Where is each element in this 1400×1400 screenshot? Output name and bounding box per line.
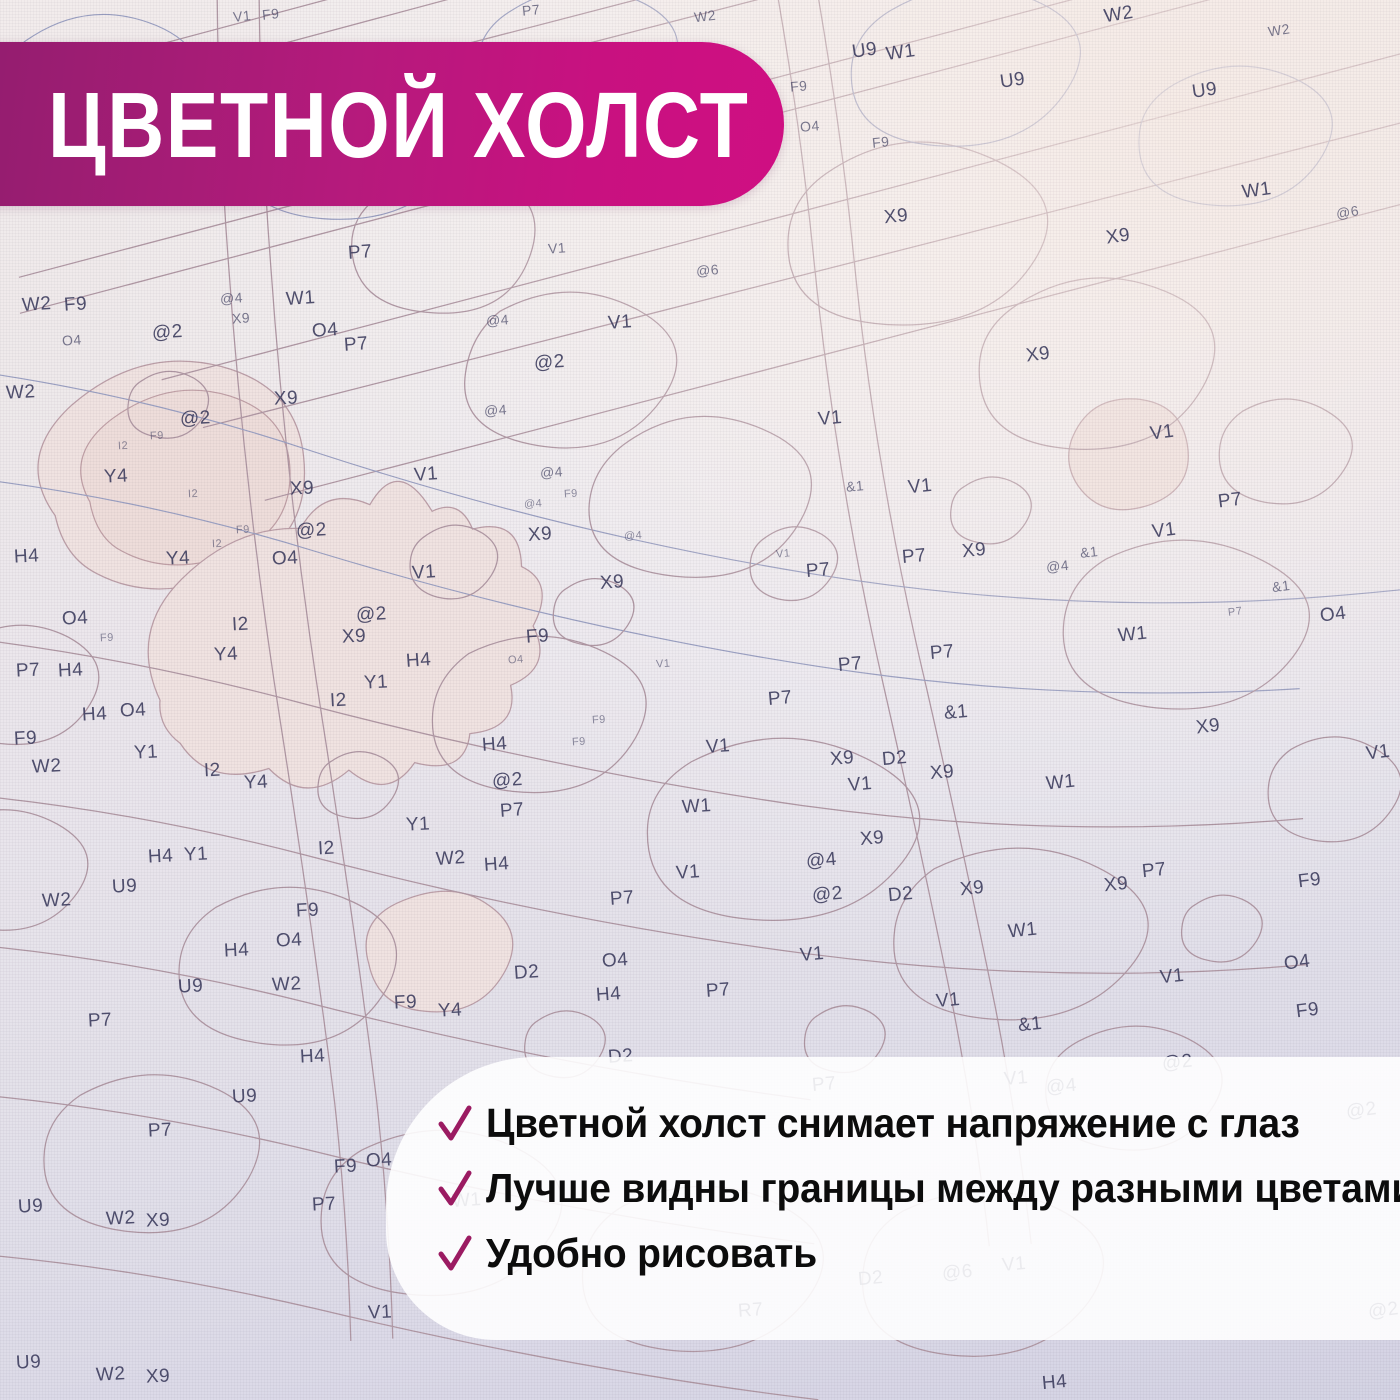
paint-code-label: @4 xyxy=(483,401,507,419)
paint-code-label: &1 xyxy=(1271,577,1291,595)
paint-code-label: O4 xyxy=(119,699,146,722)
paint-code-label: V1 xyxy=(675,861,701,885)
paint-code-label: H4 xyxy=(299,1045,325,1068)
paint-code-label: F9 xyxy=(1297,869,1323,894)
paint-code-label: @4 xyxy=(1045,557,1070,575)
paint-code-label: @4 xyxy=(539,463,563,481)
paint-code-label: F9 xyxy=(63,293,88,317)
paint-code-label: @2 xyxy=(533,351,565,375)
paint-code-label: V1 xyxy=(607,311,633,335)
paint-code-label: V1 xyxy=(817,407,843,431)
paint-code-label: W1 xyxy=(885,40,917,66)
paint-code-label: W1 xyxy=(681,795,712,819)
paint-code-label: W2 xyxy=(5,381,36,405)
header-banner-pill: ЦВЕТНОЙ ХОЛСТ xyxy=(0,42,784,206)
paint-code-label: W1 xyxy=(1241,178,1273,204)
benefits-card: Цветной холст снимает напряжение с глаз … xyxy=(386,1057,1400,1340)
paint-code-label: P7 xyxy=(901,545,927,569)
paint-code-label: Y4 xyxy=(165,547,190,570)
banner-title: ЦВЕТНОЙ ХОЛСТ xyxy=(48,77,749,170)
promo-image: V1F9P7W2U9W1W2U9W2W1U9@6F9O4F9X9X9X9W2F9… xyxy=(0,0,1400,1400)
paint-code-label: X9 xyxy=(231,309,250,326)
paint-code-label: F9 xyxy=(393,991,417,1014)
paint-code-label: P7 xyxy=(705,979,731,1003)
paint-code-label: @4 xyxy=(219,289,243,307)
paint-code-label: O4 xyxy=(275,929,302,952)
paint-code-label: P7 xyxy=(311,1193,336,1216)
paint-code-label: V1 xyxy=(413,463,439,487)
paint-code-label: X9 xyxy=(1195,715,1222,740)
paint-code-label: &1 xyxy=(845,477,864,495)
paint-code-label: O4 xyxy=(1283,950,1312,975)
paint-code-label: X9 xyxy=(1103,873,1129,897)
paint-code-label: O4 xyxy=(311,319,339,343)
paint-code-label: F9 xyxy=(333,1155,357,1178)
paint-code-label: W2 xyxy=(435,847,466,871)
paint-code-label: H4 xyxy=(57,659,83,682)
paint-code-label: X9 xyxy=(273,387,298,410)
paint-code-label: V1 xyxy=(847,773,873,797)
paint-code-label: @4 xyxy=(524,497,543,510)
paint-code-label: V1 xyxy=(907,475,933,499)
paint-code-label: U9 xyxy=(851,38,879,63)
paint-code-label: @4 xyxy=(805,849,838,874)
paint-code-label: @2 xyxy=(151,321,183,345)
paint-code-label: @2 xyxy=(355,603,387,627)
paint-code-label: Y4 xyxy=(213,643,238,666)
paint-code-label: H4 xyxy=(81,703,107,726)
paint-code-label: P7 xyxy=(1141,859,1167,883)
paint-code-label: P7 xyxy=(929,641,955,665)
paint-code-label: W2 xyxy=(693,7,717,26)
paint-code-label: F9 xyxy=(592,714,607,727)
paint-code-label: V1 xyxy=(367,1301,392,1324)
paint-code-label: P7 xyxy=(15,659,40,682)
paint-code-label: I2 xyxy=(317,838,335,861)
paint-code-label: O4 xyxy=(61,607,88,630)
paint-code-label: P7 xyxy=(499,799,525,823)
paint-code-label: U9 xyxy=(999,68,1027,93)
paint-code-label: F9 xyxy=(1295,999,1321,1024)
paint-code-label: &1 xyxy=(1079,543,1099,561)
paint-code-label: P7 xyxy=(347,241,373,265)
paint-code-label: I2 xyxy=(329,690,347,713)
paint-code-label: H4 xyxy=(405,649,432,673)
paint-code-label: X9 xyxy=(961,539,987,563)
paint-code-label: X9 xyxy=(145,1209,170,1232)
paint-code-label: H4 xyxy=(595,983,622,1007)
paint-code-label: F9 xyxy=(13,727,37,750)
paint-code-label: Y4 xyxy=(243,771,268,794)
paint-code-label: V1 xyxy=(1159,965,1185,989)
paint-code-label: V1 xyxy=(935,989,961,1013)
paint-code-label: P7 xyxy=(609,887,635,911)
paint-code-label: F9 xyxy=(871,133,890,151)
paint-code-label: @2 xyxy=(811,883,844,908)
paint-code-label: F9 xyxy=(572,736,587,749)
paint-code-label: W2 xyxy=(41,889,72,913)
check-icon xyxy=(438,1235,472,1273)
paint-code-label: W2 xyxy=(31,755,62,779)
paint-code-label: P7 xyxy=(805,559,831,583)
paint-code-label: X9 xyxy=(341,625,366,648)
paint-code-label: I2 xyxy=(118,440,129,453)
paint-code-label: X9 xyxy=(145,1365,170,1388)
paint-code-label: @4 xyxy=(485,311,509,329)
paint-code-label: V1 xyxy=(705,735,731,759)
paint-code-label: X9 xyxy=(289,477,314,500)
paint-code-label: F9 xyxy=(789,77,808,94)
paint-code-label: P7 xyxy=(147,1119,172,1142)
paint-code-label: O4 xyxy=(61,331,82,348)
paint-code-label: O4 xyxy=(601,949,629,973)
paint-code-label: D2 xyxy=(887,883,914,907)
paint-code-label: X9 xyxy=(1105,224,1132,249)
benefit-label: Лучше видны границы между разными цветам… xyxy=(486,1168,1400,1209)
paint-code-label: D2 xyxy=(513,961,540,985)
paint-code-label: V1 xyxy=(656,658,671,671)
paint-code-label: I2 xyxy=(188,488,199,501)
paint-code-label: F9 xyxy=(150,430,164,443)
paint-code-label: P7 xyxy=(767,687,793,711)
paint-code-label: @2 xyxy=(491,769,523,793)
paint-code-label: W1 xyxy=(1045,771,1077,796)
paint-code-label: O4 xyxy=(1319,602,1348,627)
paint-code-label: Y4 xyxy=(437,999,462,1022)
paint-code-label: W2 xyxy=(105,1207,136,1231)
paint-code-label: I2 xyxy=(231,614,249,637)
paint-code-label: P7 xyxy=(1217,489,1244,514)
benefit-item: Лучше видны границы между разными цветам… xyxy=(438,1156,1400,1221)
paint-code-label: &1 xyxy=(1017,1013,1043,1037)
paint-code-label: P7 xyxy=(521,1,540,19)
paint-code-label: U9 xyxy=(15,1351,41,1374)
paint-code-label: F9 xyxy=(525,625,550,649)
paint-code-label: F9 xyxy=(100,632,114,645)
paint-code-label: H4 xyxy=(481,733,508,757)
paint-code-label: &1 xyxy=(943,701,969,725)
paint-code-label: P7 xyxy=(837,653,863,677)
paint-code-label: V1 xyxy=(1365,741,1392,766)
paint-code-label: X9 xyxy=(959,877,985,901)
paint-code-label: H4 xyxy=(223,939,249,962)
paint-code-label: X9 xyxy=(883,205,909,229)
paint-code-label: H4 xyxy=(483,853,510,877)
paint-code-label: U9 xyxy=(231,1085,257,1108)
benefit-label: Цветной холст снимает напряжение с глаз xyxy=(486,1103,1300,1144)
paint-code-label: V1 xyxy=(547,239,566,256)
paint-code-label: F9 xyxy=(236,524,250,537)
paint-code-label: U9 xyxy=(1191,78,1219,103)
paint-code-label: U9 xyxy=(17,1195,43,1218)
paint-code-label: W2 xyxy=(95,1363,126,1387)
paint-code-label: I2 xyxy=(212,538,223,551)
paint-code-label: V1 xyxy=(799,943,825,967)
paint-code-label: X9 xyxy=(599,571,625,595)
paint-code-label: O4 xyxy=(799,117,820,135)
paint-code-label: @2 xyxy=(179,407,211,431)
paint-code-label: W1 xyxy=(285,287,316,311)
paint-code-label: X9 xyxy=(929,761,955,785)
check-icon xyxy=(438,1170,472,1208)
paint-code-label: U9 xyxy=(177,975,203,998)
paint-code-label: @2 xyxy=(295,519,327,543)
paint-code-label: V1 xyxy=(232,7,252,25)
paint-code-label: V1 xyxy=(776,547,791,560)
paint-code-label: O4 xyxy=(365,1149,392,1172)
paint-code-label: Y4 xyxy=(103,465,128,488)
paint-code-label: Y1 xyxy=(363,671,388,694)
paint-code-label: W2 xyxy=(271,973,302,997)
paint-code-label: Y1 xyxy=(183,843,208,866)
paint-code-label: W1 xyxy=(1117,623,1149,648)
paint-code-label: O4 xyxy=(271,547,298,570)
paint-code-label: V1 xyxy=(1149,421,1176,446)
benefit-item: Цветной холст снимает напряжение с глаз xyxy=(438,1091,1400,1156)
paint-code-label: P7 xyxy=(87,1009,112,1032)
paint-code-label: W2 xyxy=(21,293,52,317)
paint-code-label: W1 xyxy=(1007,919,1039,944)
paint-code-label: @4 xyxy=(624,529,643,542)
paint-code-label: @6 xyxy=(695,261,719,279)
paint-code-label: X9 xyxy=(527,523,553,547)
paint-code-label: O4 xyxy=(508,653,524,666)
paint-code-label: X9 xyxy=(1025,343,1052,368)
paint-code-label: I2 xyxy=(203,760,221,783)
paint-code-label: X9 xyxy=(829,747,855,771)
paint-code-label: D2 xyxy=(881,747,908,771)
paint-code-label: F9 xyxy=(295,899,319,922)
paint-code-label: X9 xyxy=(859,827,885,851)
paint-code-label: P7 xyxy=(343,333,369,357)
paint-code-label: Y1 xyxy=(133,741,158,764)
paint-code-label: V1 xyxy=(1151,519,1178,544)
paint-code-label: F9 xyxy=(564,488,579,501)
paint-code-label: F9 xyxy=(261,5,280,23)
paint-code-label: W2 xyxy=(1267,20,1291,39)
paint-code-label: H4 xyxy=(13,545,39,568)
paint-code-label: W2 xyxy=(1102,2,1135,28)
benefit-item: Удобно рисовать xyxy=(438,1221,1400,1286)
check-icon xyxy=(438,1105,472,1143)
paint-code-label: H4 xyxy=(147,845,173,868)
paint-code-label: H4 xyxy=(1041,1371,1068,1395)
benefit-label: Удобно рисовать xyxy=(486,1233,817,1274)
paint-code-label: U9 xyxy=(111,875,137,898)
paint-code-label: P7 xyxy=(1227,605,1243,619)
paint-code-label: V1 xyxy=(411,561,437,585)
paint-code-label: Y1 xyxy=(405,813,430,836)
